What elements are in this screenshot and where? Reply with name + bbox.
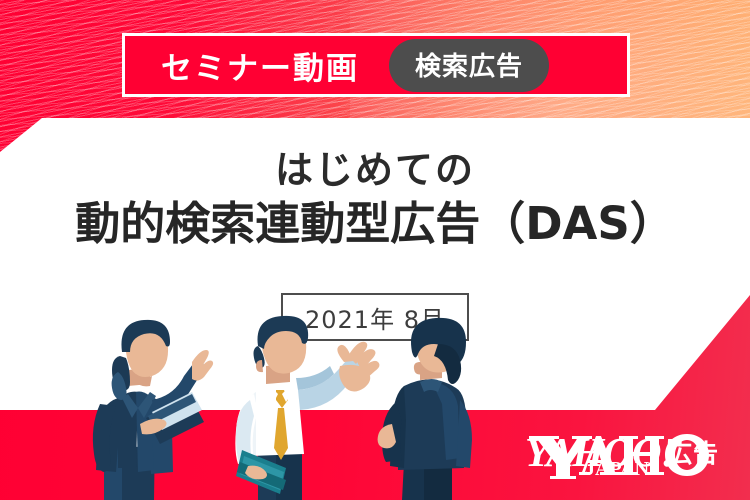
brand-logo-block: YAHOO! JAPAN 広告	[525, 428, 735, 488]
figure-businesswoman	[93, 320, 213, 500]
figure-businessman-back-turned	[378, 318, 472, 500]
figure-businessman-gesturing	[235, 316, 379, 500]
brand-suffix: 広告	[667, 434, 719, 470]
seminar-poster: セミナー動画 検索広告 はじめての 動的検索連動型広告（DAS） 2021年 8…	[0, 0, 750, 500]
people-illustration	[0, 0, 750, 500]
brand-sub: JAPAN	[585, 458, 649, 481]
